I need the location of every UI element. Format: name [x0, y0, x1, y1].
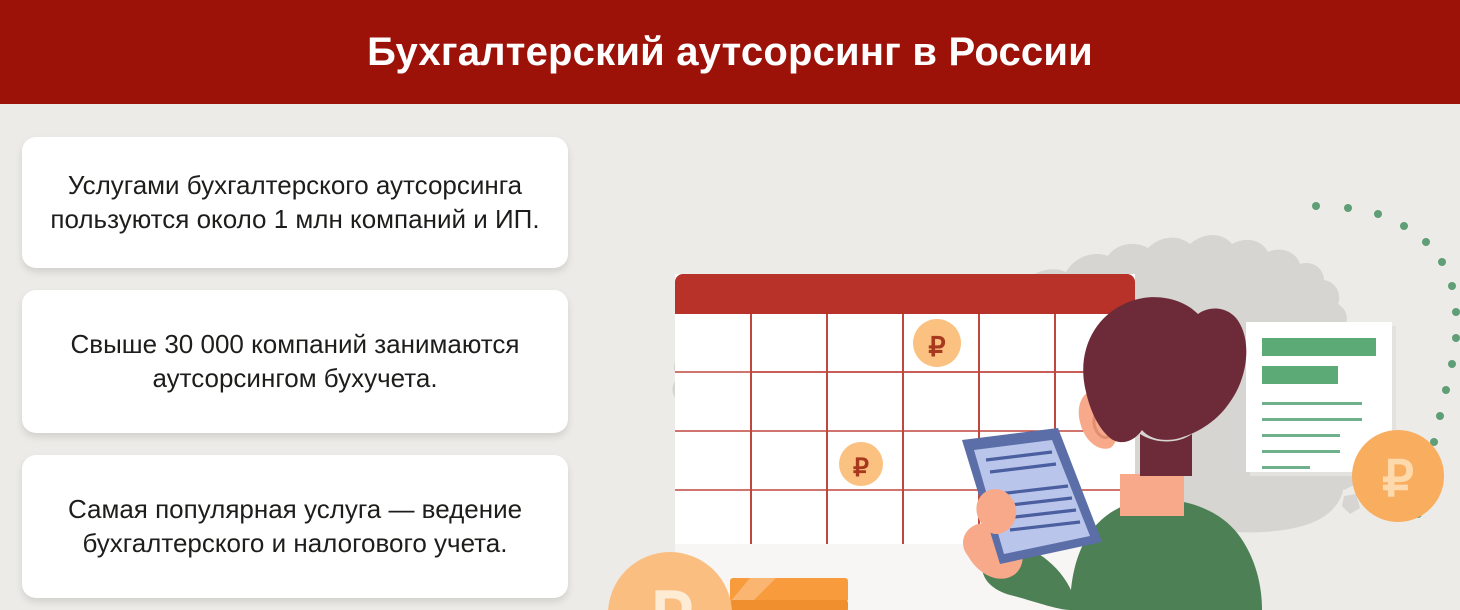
svg-text:₽: ₽	[928, 332, 945, 362]
stat-card-popular: Самая популярная услуга — ведение бухгал…	[22, 455, 568, 598]
document-line	[1262, 418, 1362, 421]
document-line	[1262, 434, 1340, 437]
calendar-header-bar	[675, 274, 1135, 314]
svg-text:₽: ₽	[647, 580, 693, 610]
document-bar	[1262, 366, 1338, 384]
person-neck	[1120, 474, 1184, 516]
document-line	[1262, 450, 1340, 453]
calendar-coin-1: ₽	[913, 319, 961, 367]
stat-card-text: Свыше 30 000 компаний занимаются аутсорс…	[44, 328, 546, 394]
svg-text:₽: ₽	[853, 454, 869, 482]
header-banner: Бухгалтерский аутсорсинг в России	[0, 0, 1460, 104]
stat-card-text: Самая популярная услуга — ведение бухгал…	[44, 493, 546, 559]
coin-stack	[730, 578, 848, 610]
stat-card-usage: Услугами бухгалтерского аутсорсинга поль…	[22, 137, 568, 268]
stat-card-providers: Свыше 30 000 компаний занимаются аутсорс…	[22, 290, 568, 433]
stat-card-list: Услугами бухгалтерского аутсорсинга поль…	[22, 137, 568, 610]
svg-text:₽: ₽	[1382, 451, 1414, 507]
document-line	[1262, 466, 1310, 469]
illustration-scene: ₽	[600, 104, 1460, 610]
document-bar	[1262, 338, 1376, 356]
calendar-coin-2: ₽	[839, 442, 883, 486]
infographic-root: Бухгалтерский аутсорсинг в России Услуга…	[0, 0, 1460, 610]
page-title: Бухгалтерский аутсорсинг в России	[367, 30, 1093, 75]
stat-card-text: Услугами бухгалтерского аутсорсинга поль…	[44, 169, 546, 235]
document-line	[1262, 402, 1362, 405]
document-ruble-coin: ₽	[1352, 430, 1444, 522]
